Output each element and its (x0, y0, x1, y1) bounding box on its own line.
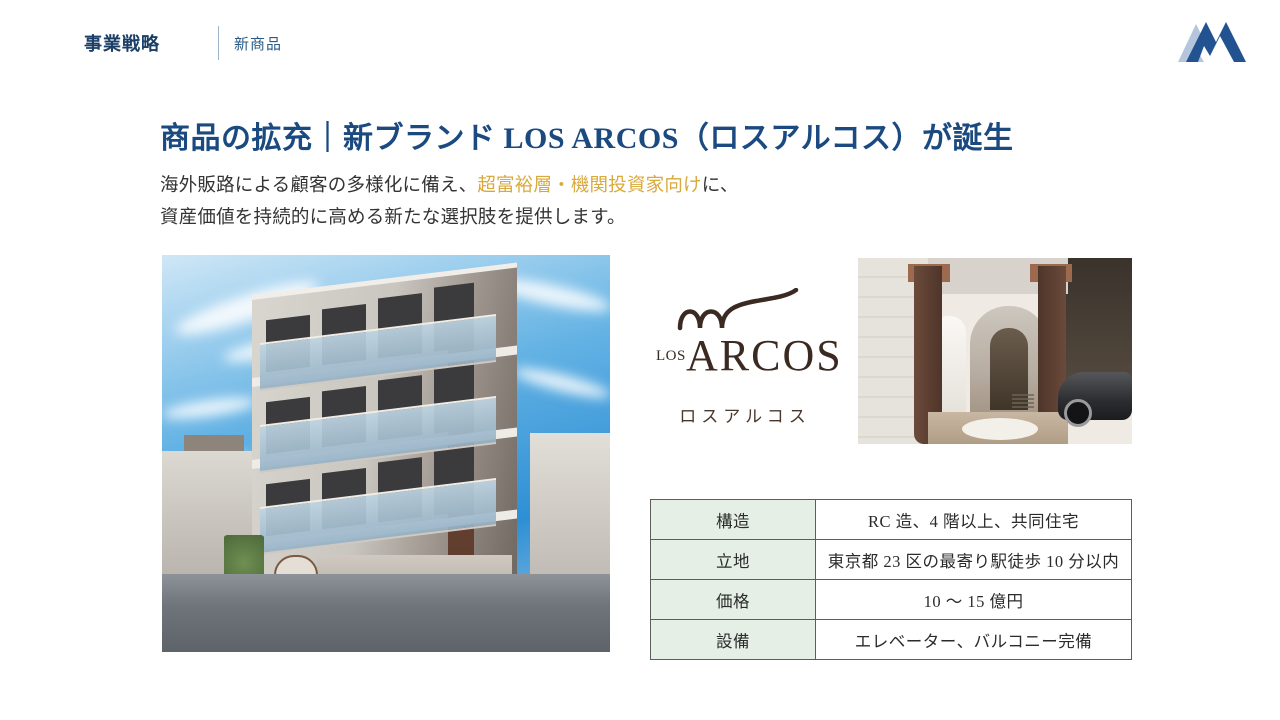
pillar-signage (1012, 394, 1034, 408)
slide-header: 事業戦略 新商品 (0, 0, 1280, 88)
subtitle-line-2: 資産価値を持続的に高める新たな選択肢を提供します。 (160, 202, 739, 234)
neighbor-building-right (530, 433, 610, 583)
table-row: 構造 RC 造、4 階以上、共同住宅 (651, 500, 1132, 540)
table-row: 立地 東京都 23 区の最寄り駅徒歩 10 分以内 (651, 540, 1132, 580)
street-ground (162, 574, 610, 652)
spec-table-body: 構造 RC 造、4 階以上、共同住宅 立地 東京都 23 区の最寄り駅徒歩 10… (651, 500, 1132, 660)
spec-value: RC 造、4 階以上、共同住宅 (816, 500, 1132, 540)
spec-key: 設備 (651, 620, 816, 660)
spec-table: 構造 RC 造、4 階以上、共同住宅 立地 東京都 23 区の最寄り駅徒歩 10… (650, 499, 1132, 660)
subtitle-line-1: 海外販路による顧客の多様化に備え、超富裕層・機関投資家向けに、 (160, 170, 739, 202)
building-exterior-rendering (162, 255, 610, 652)
brand-logo-block: LOS ARCOS ロスアルコス (650, 288, 840, 413)
page-subtitle: 海外販路による顧客の多様化に備え、超富裕層・機関投資家向けに、 資産価値を持続的… (160, 170, 739, 234)
subtitle-highlight: 超富裕層・機関投資家向け (477, 176, 701, 196)
spec-key: 価格 (651, 580, 816, 620)
table-row: 価格 10 〜 15 億円 (651, 580, 1132, 620)
subtitle-text-post: に、 (702, 176, 739, 196)
brand-los-text: LOS (656, 348, 686, 365)
subtitle-text-pre: 海外販路による顧客の多様化に備え、 (160, 176, 477, 196)
spec-key: 構造 (651, 500, 816, 540)
entrance-interior-rendering (858, 258, 1132, 444)
header-eyebrow: 事業戦略 (84, 30, 160, 56)
spec-value: 10 〜 15 億円 (816, 580, 1132, 620)
header-subtitle: 新商品 (234, 33, 282, 54)
spec-key: 立地 (651, 540, 816, 580)
garage-sports-car (1058, 372, 1132, 420)
double-arch-mark-icon (670, 288, 820, 332)
corporate-m-logo-icon (1174, 18, 1250, 68)
brand-wordmark: LOS ARCOS (650, 332, 840, 384)
brand-kana-text: ロスアルコス (650, 402, 840, 427)
entrance-rug (962, 418, 1038, 440)
page-title: 商品の拡充｜新ブランド LOS ARCOS（ロスアルコス）が誕生 (160, 113, 1014, 157)
spec-value: エレベーター、バルコニー完備 (816, 620, 1132, 660)
table-row: 設備 エレベーター、バルコニー完備 (651, 620, 1132, 660)
vertical-divider-icon (218, 26, 219, 60)
spec-value: 東京都 23 区の最寄り駅徒歩 10 分以内 (816, 540, 1132, 580)
brand-arcos-text: ARCOS (686, 330, 843, 381)
